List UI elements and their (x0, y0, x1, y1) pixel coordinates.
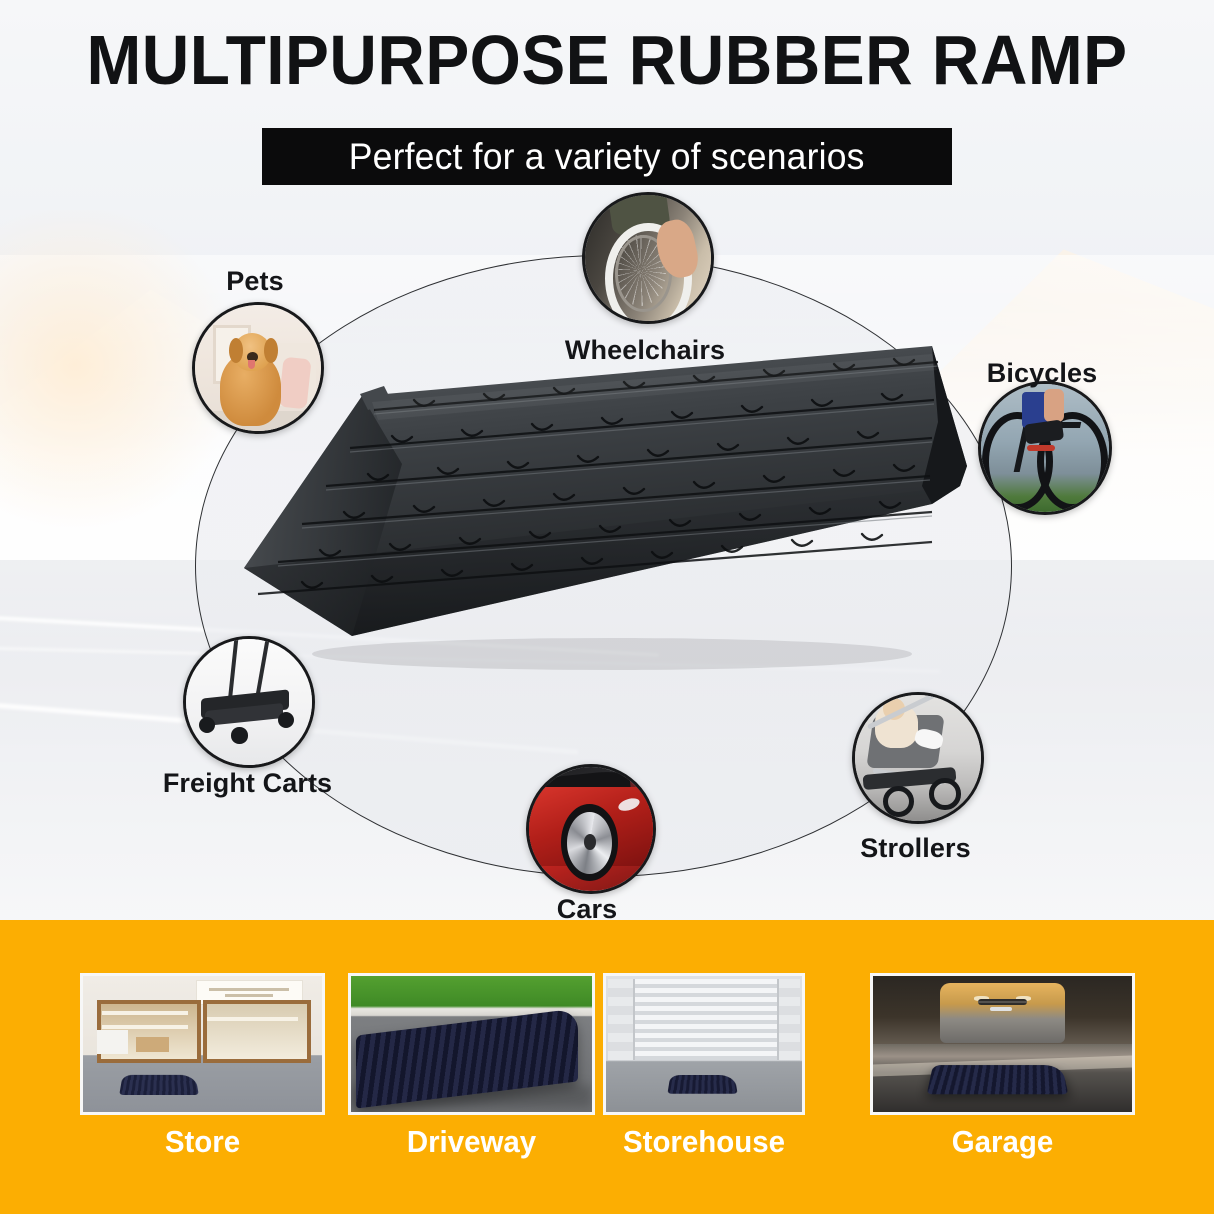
dog-ear (229, 338, 243, 363)
scenario-label-driveway: Driveway (354, 1125, 589, 1159)
product-ramp-image (232, 336, 972, 676)
car-grille (978, 999, 1028, 1005)
scenario-label-store: Store (86, 1125, 319, 1159)
subtitle-text: Perfect for a variety of scenarios (349, 137, 865, 177)
callout-label-bicycles: Bicycles (962, 358, 1122, 388)
cyclist-leg (1044, 389, 1064, 422)
car (940, 983, 1064, 1043)
photo-detail (102, 1011, 188, 1015)
stroller-wheel (929, 778, 960, 809)
scenario-thumb-garage[interactable] (870, 973, 1135, 1115)
store-window (203, 1000, 311, 1062)
scenario-thumb-store[interactable] (80, 973, 325, 1115)
callout-bubble-bicycles[interactable] (978, 381, 1112, 515)
scenario-label-storehouse: Storehouse (603, 1125, 804, 1159)
ramp-in-scene (927, 1065, 1068, 1094)
dog-ear (264, 338, 278, 363)
stroller-photo (855, 695, 981, 821)
ramp-in-scene (667, 1075, 737, 1094)
driveway-scene (351, 976, 592, 1112)
callout-label-wheelchairs: Wheelchairs (545, 335, 745, 365)
cart-handle (255, 636, 271, 700)
wheelchair-photo (585, 195, 711, 321)
callout-bubble-freight-carts[interactable] (183, 636, 315, 768)
scenario-label-garage: Garage (877, 1125, 1129, 1159)
stroller-wheel (883, 786, 914, 817)
license-plate (990, 1007, 1012, 1011)
callout-bubble-wheelchairs[interactable] (582, 192, 714, 324)
bicycle-photo (981, 384, 1109, 512)
scenario-thumbnails (0, 973, 1214, 1115)
callout-label-freight-carts: Freight Carts (155, 768, 340, 798)
callout-bubble-pets[interactable] (192, 302, 324, 434)
car-photo (529, 767, 653, 891)
scenario-thumb-storehouse[interactable] (603, 973, 805, 1115)
pets-photo (195, 305, 321, 431)
ramp-in-scene (119, 1075, 199, 1095)
cart-handle (228, 636, 239, 700)
callout-label-strollers: Strollers (838, 833, 993, 863)
photo-detail (97, 1030, 128, 1053)
scenario-thumb-driveway[interactable] (348, 973, 595, 1115)
photo-detail (136, 1037, 169, 1052)
photo-detail (608, 979, 633, 1061)
page-title: MULTIPURPOSE RUBBER RAMP (36, 22, 1177, 98)
callout-label-pets: Pets (190, 266, 320, 296)
photo-detail (207, 1017, 298, 1021)
cart-wheel (231, 727, 247, 743)
cart-wheel (278, 712, 294, 728)
infographic-canvas: MULTIPURPOSE RUBBER RAMP Perfect for a v… (0, 0, 1214, 1214)
photo-detail (102, 1025, 188, 1029)
photo-detail (278, 357, 311, 410)
callout-bubble-cars[interactable] (526, 764, 656, 894)
subtitle-banner: Perfect for a variety of scenarios (262, 128, 952, 185)
cart-wheel (199, 717, 215, 733)
photo-detail (1027, 445, 1055, 450)
freight-cart-photo (186, 639, 312, 765)
garage-scene (873, 976, 1132, 1112)
callout-bubble-strollers[interactable] (852, 692, 984, 824)
roller-shutter-door (633, 979, 778, 1061)
car-hub (584, 834, 596, 850)
storehouse-scene (606, 976, 802, 1112)
store-scene (83, 976, 322, 1112)
